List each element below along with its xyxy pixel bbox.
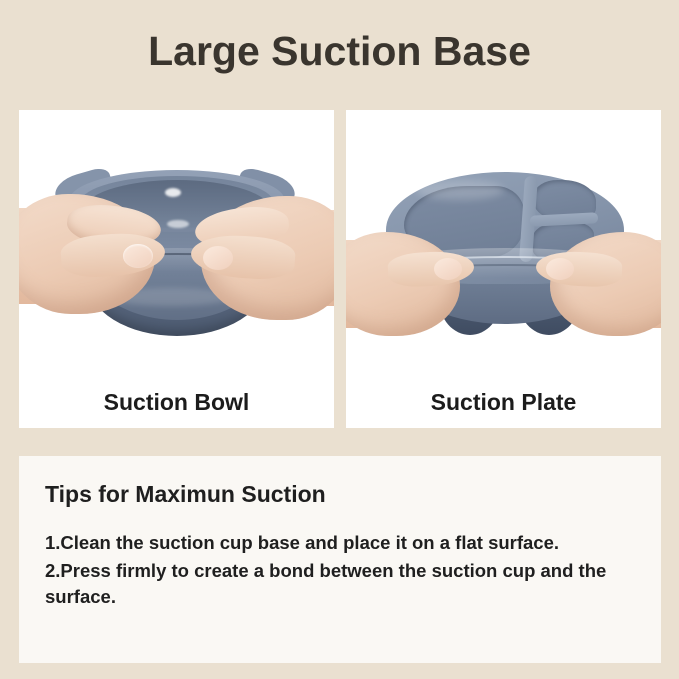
- panel-label-suction-plate: Suction Plate: [346, 389, 661, 416]
- right-fingernail: [203, 246, 233, 270]
- infographic-page: Large Suction Base: [0, 0, 679, 679]
- left-fingernail: [123, 244, 153, 268]
- bowl-specular-highlight: [165, 188, 181, 197]
- left-fingernail: [434, 258, 462, 280]
- panel-suction-plate: Suction Plate: [346, 110, 661, 428]
- panel-suction-bowl: Suction Bowl: [19, 110, 334, 428]
- suction-bowl-photo: [19, 110, 334, 368]
- tips-box: Tips for Maximun Suction 1.Clean the suc…: [19, 456, 661, 663]
- right-fingernail: [546, 258, 574, 280]
- tips-step-1: 1.Clean the suction cup base and place i…: [45, 530, 635, 556]
- tips-heading: Tips for Maximun Suction: [45, 480, 635, 508]
- bowl-specular-highlight: [167, 220, 189, 228]
- panel-label-suction-bowl: Suction Bowl: [19, 389, 334, 416]
- suction-plate-photo: [346, 110, 661, 368]
- plate-specular-highlight: [416, 180, 504, 200]
- product-panels: Suction Bowl: [19, 110, 661, 428]
- page-title: Large Suction Base: [0, 26, 679, 76]
- tips-step-2: 2.Press firmly to create a bond between …: [45, 558, 635, 610]
